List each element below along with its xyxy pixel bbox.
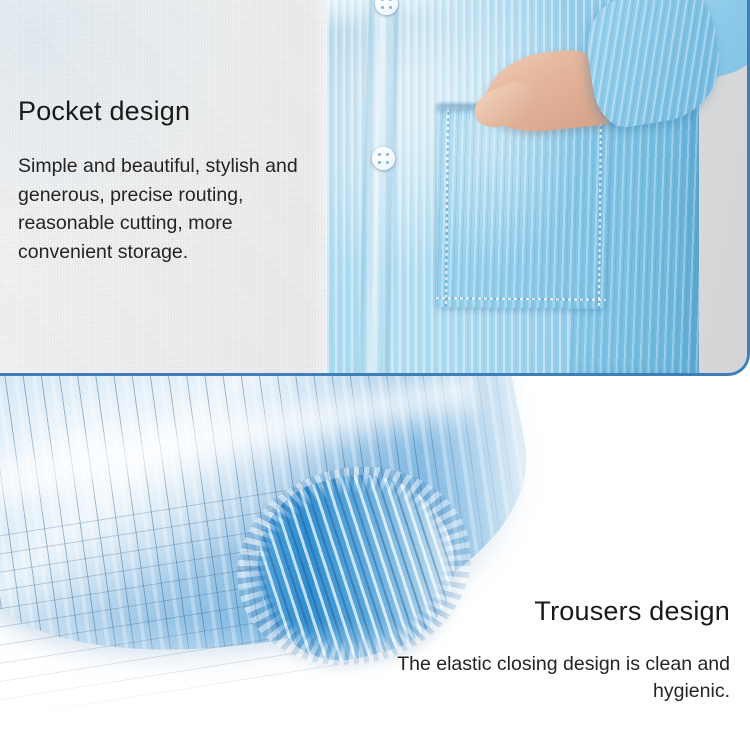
trousers-design-body-text: The elastic closing design is clean and … (390, 651, 730, 705)
pocket-seam-right (598, 111, 602, 309)
pocket-design-panel: Pocket design Simple and beautiful, styl… (0, 0, 750, 376)
pocket-design-body-text: Simple and beautiful, stylish and genero… (18, 152, 330, 266)
pocket-design-heading: Pocket design (18, 96, 190, 127)
product-feature-image: Pocket design Simple and beautiful, styl… (0, 0, 750, 750)
patch-pocket (436, 109, 608, 309)
pocket-seam-left (445, 109, 449, 307)
pocket-hem (436, 297, 606, 301)
pocket-photo (327, 0, 750, 376)
trousers-design-heading: Trousers design (534, 596, 730, 627)
shirt-button-lower (372, 147, 395, 170)
